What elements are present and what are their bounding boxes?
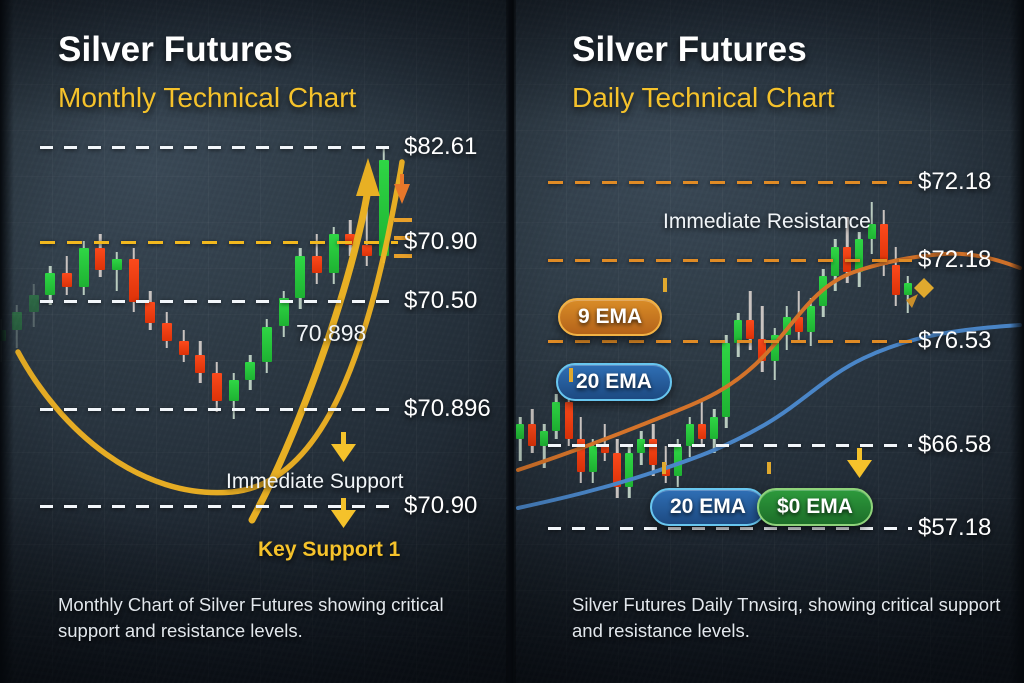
level-line-dash [40, 300, 398, 303]
level-line-dash [548, 259, 912, 262]
monthly-chart-panel: Silver Futures Monthly Technical Chart $… [0, 0, 510, 683]
level-price-label: $70.90 [404, 228, 477, 256]
level-line-dash [548, 340, 912, 343]
right-edge-shade [1010, 0, 1024, 683]
page-title-right: Silver Futures [572, 30, 807, 70]
level-line-dash [548, 181, 912, 184]
ema-legend-pill[interactable]: 20 EMA [556, 363, 672, 401]
chart-annotation: Immediate Resistance [663, 210, 871, 234]
panel-divider [506, 0, 516, 683]
caption-right: Silver Futures Daily Tnʌsirq, showing cr… [572, 592, 1002, 645]
price-tag-left: 70.898 [296, 320, 366, 347]
caption-left: Monthly Chart of Silver Futures showing … [58, 592, 488, 645]
page-subtitle-left: Monthly Technical Chart [58, 82, 356, 114]
ema-legend-pill[interactable]: 9 EMA [558, 298, 662, 336]
infographic-root: Silver Futures Monthly Technical Chart $… [0, 0, 1024, 683]
level-price-label: $72.18 [918, 168, 991, 196]
level-price-label: $70.90 [404, 492, 477, 520]
level-price-label: $72.18 [918, 246, 991, 274]
level-price-label: $57.18 [918, 514, 991, 542]
left-edge-shade [0, 0, 14, 683]
chart-annotation: Key Support 1 [258, 538, 400, 562]
level-price-label: $70.896 [404, 395, 491, 423]
chart-annotation: Immediate Support [226, 470, 403, 494]
level-line-dash [40, 241, 398, 244]
daily-chart-panel: Silver Futures Daily Technical Chart $72… [514, 0, 1024, 683]
level-price-label: $66.58 [918, 431, 991, 459]
level-line-dash [40, 505, 398, 508]
ema-legend-pill[interactable]: $0 EMA [757, 488, 873, 526]
page-title-left: Silver Futures [58, 30, 293, 70]
level-line-dash [40, 146, 398, 149]
ema-legend-pill[interactable]: 20 EMA [650, 488, 766, 526]
level-price-label: $70.50 [404, 287, 477, 315]
page-subtitle-right: Daily Technical Chart [572, 82, 835, 114]
level-price-label: $82.61 [404, 133, 477, 161]
level-line-dash [548, 527, 912, 530]
level-line-dash [40, 408, 398, 411]
level-line-dash [548, 444, 912, 447]
level-price-label: $76.53 [918, 327, 991, 355]
